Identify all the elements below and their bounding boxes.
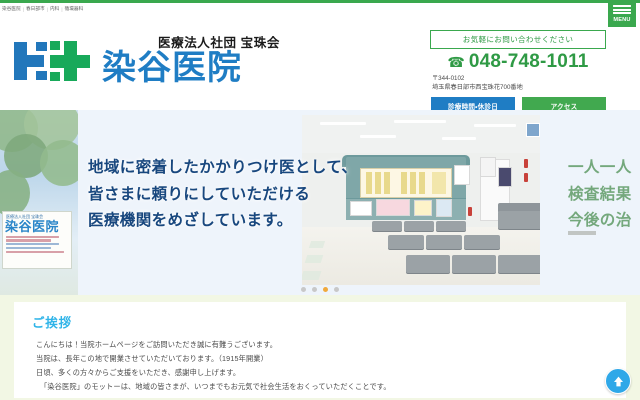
greeting-paragraph-1: こんにちは！当院ホームページをご訪問いただき誠に有難うございます。 bbox=[36, 338, 626, 352]
greeting-body: こんにちは！当院ホームページをご訪問いただき誠に有難うございます。 当院は、長年… bbox=[14, 331, 626, 394]
slider-dot-4[interactable] bbox=[334, 287, 339, 292]
hero-preview-overlay bbox=[568, 231, 596, 235]
hamburger-icon-line bbox=[613, 9, 631, 11]
arrow-up-icon bbox=[612, 375, 625, 388]
signboard-clinic-name: 染谷医院 bbox=[3, 220, 71, 233]
clinic-exterior-photo: 医療法人社団 宝珠会 染谷医院 bbox=[0, 110, 78, 295]
brand-logo-link[interactable]: 医療法人社団 宝珠会 染谷医院 bbox=[12, 32, 280, 86]
signboard-info-rows bbox=[3, 233, 71, 253]
street-address: 埼玉県春日部市西宝珠花700番地 bbox=[432, 83, 606, 92]
hero-next-line-1: 一人一人 bbox=[568, 155, 640, 182]
slider-dot-1[interactable] bbox=[301, 287, 306, 292]
topbar-keyword-3[interactable]: 循環器科 bbox=[65, 7, 84, 12]
greeting-card: ご挨拶 こんにちは！当院ホームページをご訪問いただき誠に有難うございます。 当院… bbox=[14, 302, 626, 398]
scroll-to-top-button[interactable] bbox=[605, 368, 631, 394]
slider-dot-3-active[interactable] bbox=[323, 287, 328, 292]
hamburger-icon-line bbox=[613, 12, 631, 14]
brand-text-block: 医療法人社団 宝珠会 染谷医院 bbox=[102, 32, 280, 86]
site-header: 医療法人社団 宝珠会 染谷医院 お気軽にお問い合わせください ☎ 048-748… bbox=[0, 16, 640, 110]
hero-headline-line-3: 医療機関をめざしています。 bbox=[88, 208, 357, 235]
header-contact-block: お気軽にお問い合わせください ☎ 048-748-1011 〒344-0102 … bbox=[430, 30, 606, 115]
hero-slider[interactable]: 医療法人社団 宝珠会 染谷医院 bbox=[0, 110, 640, 295]
hamburger-icon-line bbox=[613, 5, 631, 7]
clinic-signboard: 医療法人社団 宝珠会 染谷医院 bbox=[2, 211, 72, 269]
greeting-paragraph-2: 当院は、長年この地で開業させていただいております。（1915年開業） bbox=[36, 352, 626, 366]
phone-block[interactable]: ☎ 048-748-1011 bbox=[430, 52, 606, 71]
top-keyword-bar: 染谷医院 | 春日部市 | 内科 | 循環器科 bbox=[0, 0, 640, 16]
slider-dot-2[interactable] bbox=[312, 287, 317, 292]
page-root: 染谷医院 | 春日部市 | 内科 | 循環器科 MENU bbox=[0, 0, 640, 400]
address-block: 〒344-0102 埼玉県春日部市西宝珠花700番地 bbox=[430, 74, 606, 93]
greeting-paragraph-3: 日頃、多くの方々からご支援をいただき、感謝申し上げます。 bbox=[36, 366, 626, 380]
topbar-keyword-2[interactable]: 内科 bbox=[50, 7, 59, 12]
hero-slide-active: 医療法人社団 宝珠会 染谷医院 bbox=[0, 110, 640, 295]
topbar-keyword-0[interactable]: 染谷医院 bbox=[2, 7, 21, 12]
menu-button[interactable]: MENU bbox=[608, 1, 636, 27]
clinic-cross-logo-icon bbox=[12, 36, 98, 86]
hero-next-line-2: 検査結果 bbox=[568, 182, 640, 209]
greeting-paragraph-4: 「染谷医院」のモットーは、地域の皆さまが、いつまでもお元気で社会生活をおくってい… bbox=[36, 380, 626, 394]
hero-headline: 地域に密着したかかりつけ医として、 皆さまに頼りにしていただける 医療機関をめざ… bbox=[88, 155, 357, 235]
hero-headline-line-2: 皆さまに頼りにしていただける bbox=[88, 182, 357, 209]
topbar-keyword-1[interactable]: 春日部市 bbox=[26, 7, 45, 12]
clinic-name: 染谷医院 bbox=[102, 52, 280, 84]
hero-next-slide-preview[interactable]: 一人一人 検査結果 今後の治 bbox=[568, 155, 640, 235]
greeting-title: ご挨拶 bbox=[14, 302, 626, 331]
phone-number: 048-748-1011 bbox=[469, 52, 589, 71]
telephone-icon: ☎ bbox=[447, 55, 464, 69]
menu-button-label: MENU bbox=[613, 17, 630, 23]
hero-headline-line-1: 地域に密着したかかりつけ医として、 bbox=[88, 155, 357, 182]
slider-dots bbox=[0, 287, 640, 292]
postal-code: 〒344-0102 bbox=[432, 74, 606, 83]
contact-cta-text: お気軽にお問い合わせください bbox=[430, 30, 606, 49]
